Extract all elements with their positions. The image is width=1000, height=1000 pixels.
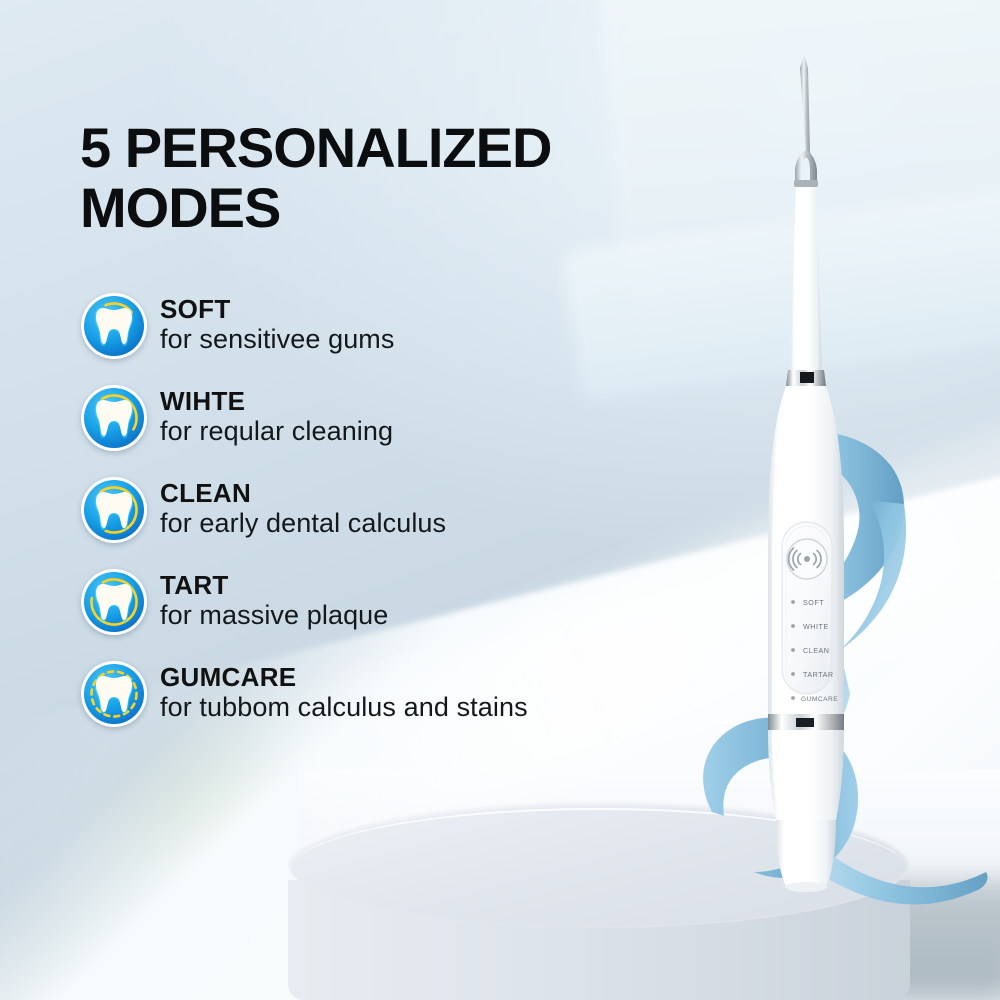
tooth-icon — [80, 292, 148, 360]
device-mode-label: GUMCARE — [801, 696, 838, 703]
tooth-icon — [80, 476, 148, 544]
mode-title: SOFT — [160, 296, 395, 323]
mode-title: GUMCARE — [160, 664, 528, 691]
tooth-icon — [80, 384, 148, 452]
device-mode-label: TARTAR — [803, 670, 834, 679]
mode-title: CLEAN — [160, 480, 446, 507]
list-item: GUMCARE for tubbom calculus and stains — [80, 660, 600, 728]
device-mode-label: SOFT — [803, 598, 824, 607]
tooth-icon — [80, 660, 148, 728]
mode-title: TART — [160, 572, 388, 599]
mode-description: for early dental calculus — [160, 508, 446, 540]
list-item: CLEAN for early dental calculus — [80, 476, 600, 544]
mode-feature-list: SOFT for sensitivee gums WIHTE for requl… — [80, 292, 600, 728]
page-title: 5 PERSONALIZED MODES — [80, 118, 640, 238]
mode-description: for reqular cleaning — [160, 416, 393, 448]
device-mode-label: WHITE — [803, 622, 829, 631]
list-item: SOFT for sensitivee gums — [80, 292, 600, 360]
list-item: TART for massive plaque — [80, 568, 600, 636]
tooth-icon — [80, 568, 148, 636]
page-title-line-1: 5 PERSONALIZED — [80, 118, 640, 178]
mode-description: for tubbom calculus and stains — [160, 692, 528, 724]
device-mode-label: CLEAN — [803, 646, 829, 655]
ultrasonic-scaler-device: SOFT WHITE CLEAN TARTAR GUMCARE — [740, 30, 920, 910]
page-title-line-2: MODES — [80, 178, 640, 238]
product-promo-image: SOFT WHITE CLEAN TARTAR GUMCARE 5 PERSON… — [0, 0, 1000, 1000]
mode-description: for massive plaque — [160, 600, 388, 632]
list-item: WIHTE for reqular cleaning — [80, 384, 600, 452]
mode-title: WIHTE — [160, 388, 393, 415]
power-button-sonic-wave-icon — [787, 539, 827, 579]
mode-description: for sensitivee gums — [160, 324, 395, 356]
